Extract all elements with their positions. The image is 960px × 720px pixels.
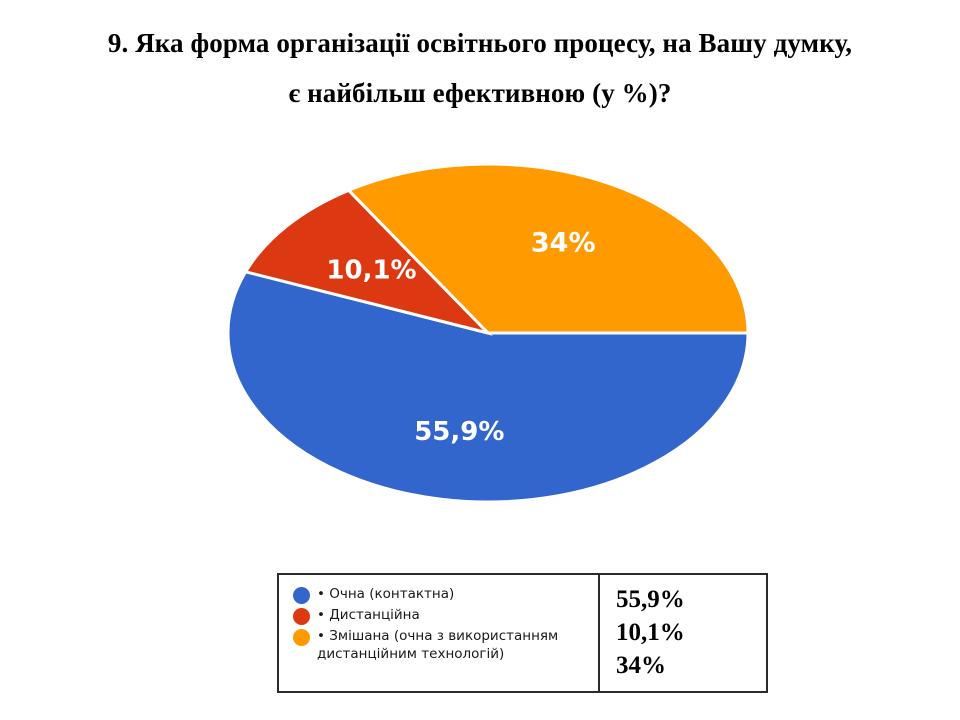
legend-labels-cell: • Очна (контактна) • Дистанційна • Зміша…: [279, 575, 600, 691]
legend-table: • Очна (контактна) • Дистанційна • Зміша…: [277, 573, 768, 693]
legend-row-0: • Очна (контактна): [293, 586, 598, 604]
blue-dot-icon: [293, 587, 310, 604]
legend-row-1: • Дистанційна: [293, 607, 598, 625]
pie-slice-label: 34%: [531, 228, 596, 259]
pie-chart: 55,9%10,1%34%: [0, 140, 960, 540]
legend-label-1: • Дистанційна: [317, 607, 420, 625]
pie-slice-label: 55,9%: [414, 417, 504, 447]
page-title-line-2: є найбільш ефективною (у %)?: [0, 68, 960, 118]
legend-label-0: • Очна (контактна): [317, 586, 454, 604]
page-title: 9. Яка форма організації освітнього проц…: [0, 18, 960, 118]
legend-value-0: 55,9%: [616, 583, 766, 616]
legend-label-2: • Змішана (очна з використанням дистанці…: [317, 628, 597, 663]
pie-chart-svg: 55,9%10,1%34%: [0, 140, 960, 540]
orange-dot-icon: [293, 629, 310, 646]
pie-slice-label: 10,1%: [326, 255, 416, 285]
legend-values-cell: 55,9% 10,1% 34%: [600, 575, 766, 691]
legend-value-2: 34%: [616, 649, 766, 682]
legend-value-1: 10,1%: [616, 616, 766, 649]
legend-row-2: • Змішана (очна з використанням дистанці…: [293, 628, 598, 663]
pie-slice-group: [228, 164, 748, 502]
red-dot-icon: [293, 608, 310, 625]
page-title-line-1: 9. Яка форма організації освітнього проц…: [0, 18, 960, 68]
